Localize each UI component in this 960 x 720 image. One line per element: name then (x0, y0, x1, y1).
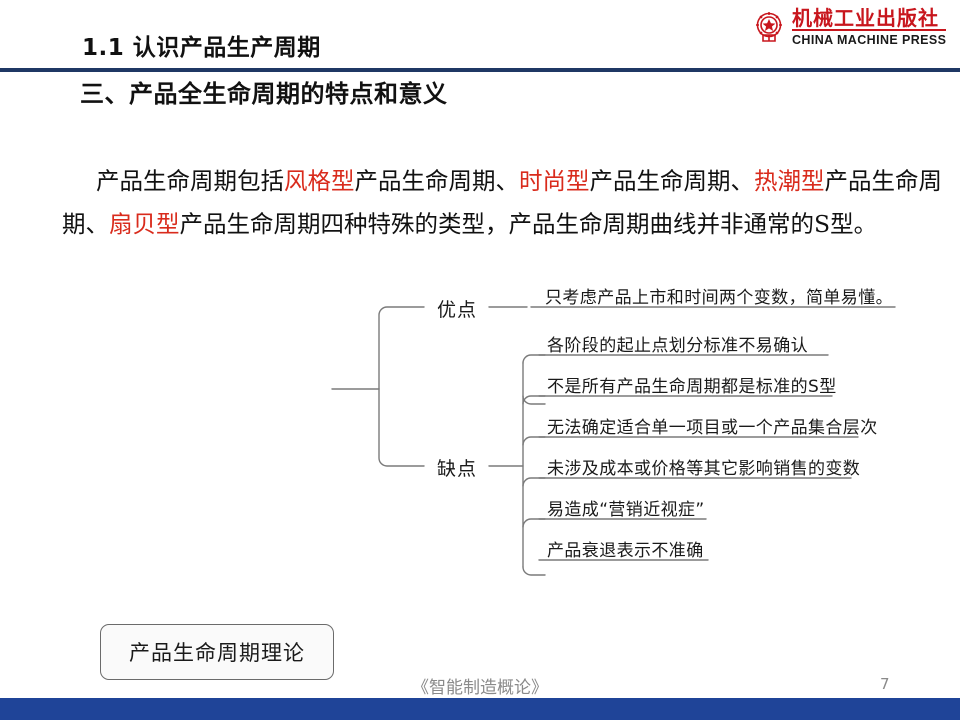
paragraph-seg-1: 产品生命周期包括 (96, 167, 284, 195)
highlight-term-4: 扇贝型 (109, 210, 180, 238)
publisher-logo: 机械工业出版社 CHINA MACHINE PRESS (752, 8, 946, 47)
mindmap-leaf-drawback-6[interactable]: 产品衰退表示不准确 (547, 536, 704, 561)
mindmap-leaf-drawback-1[interactable]: 各阶段的起止点划分标准不易确认 (547, 331, 808, 356)
slide-canvas: 机械工业出版社 CHINA MACHINE PRESS 1.1 认识产品生产周期… (0, 0, 960, 720)
highlight-term-2: 时尚型 (519, 167, 590, 195)
footer-book-title: 《智能制造概论》 (0, 673, 960, 698)
gear-star-emblem-icon (752, 10, 786, 44)
mindmap-root-label: 产品生命周期理论 (129, 637, 305, 667)
paragraph-seg-2: 产品生命周期、 (355, 167, 520, 195)
header-divider (0, 68, 960, 72)
mindmap-diagram: 产品生命周期理论 优点 缺点 只考虑产品上市和时间两个变数，简单易懂。 各阶段的… (0, 262, 960, 602)
logo-english-name: CHINA MACHINE PRESS (792, 34, 946, 47)
mindmap-leaf-drawback-4[interactable]: 未涉及成本或价格等其它影响销售的变数 (547, 454, 860, 479)
paragraph-seg-3: 产品生命周期、 (590, 167, 755, 195)
logo-chinese-name: 机械工业出版社 (792, 8, 946, 31)
mindmap-leaf-drawback-5[interactable]: 易造成“营销近视症” (547, 495, 705, 520)
mindmap-branch-advantages[interactable]: 优点 (437, 295, 477, 322)
paragraph-seg-5: 产品生命周期四种特殊的类型，产品生命周期曲线并非通常的S型。 (180, 210, 878, 238)
mindmap-branch-drawbacks[interactable]: 缺点 (437, 454, 477, 481)
footer-page-number: 7 (880, 675, 920, 693)
page-title: 1.1 认识产品生产周期 (82, 28, 321, 62)
body-paragraph: 产品生命周期包括风格型产品生命周期、时尚型产品生命周期、热潮型产品生命周期、扇贝… (62, 160, 942, 246)
mindmap-leaf-drawback-2[interactable]: 不是所有产品生命周期都是标准的S型 (547, 372, 837, 397)
page-subtitle: 三、产品全生命周期的特点和意义 (80, 74, 448, 109)
footer-bar (0, 698, 960, 720)
mindmap-root-node[interactable]: 产品生命周期理论 (100, 624, 334, 680)
mindmap-leaf-advantage-1[interactable]: 只考虑产品上市和时间两个变数，简单易懂。 (545, 283, 893, 308)
highlight-term-1: 风格型 (284, 167, 355, 195)
highlight-term-3: 热潮型 (754, 167, 825, 195)
mindmap-leaf-drawback-3[interactable]: 无法确定适合单一项目或一个产品集合层次 (547, 413, 878, 438)
